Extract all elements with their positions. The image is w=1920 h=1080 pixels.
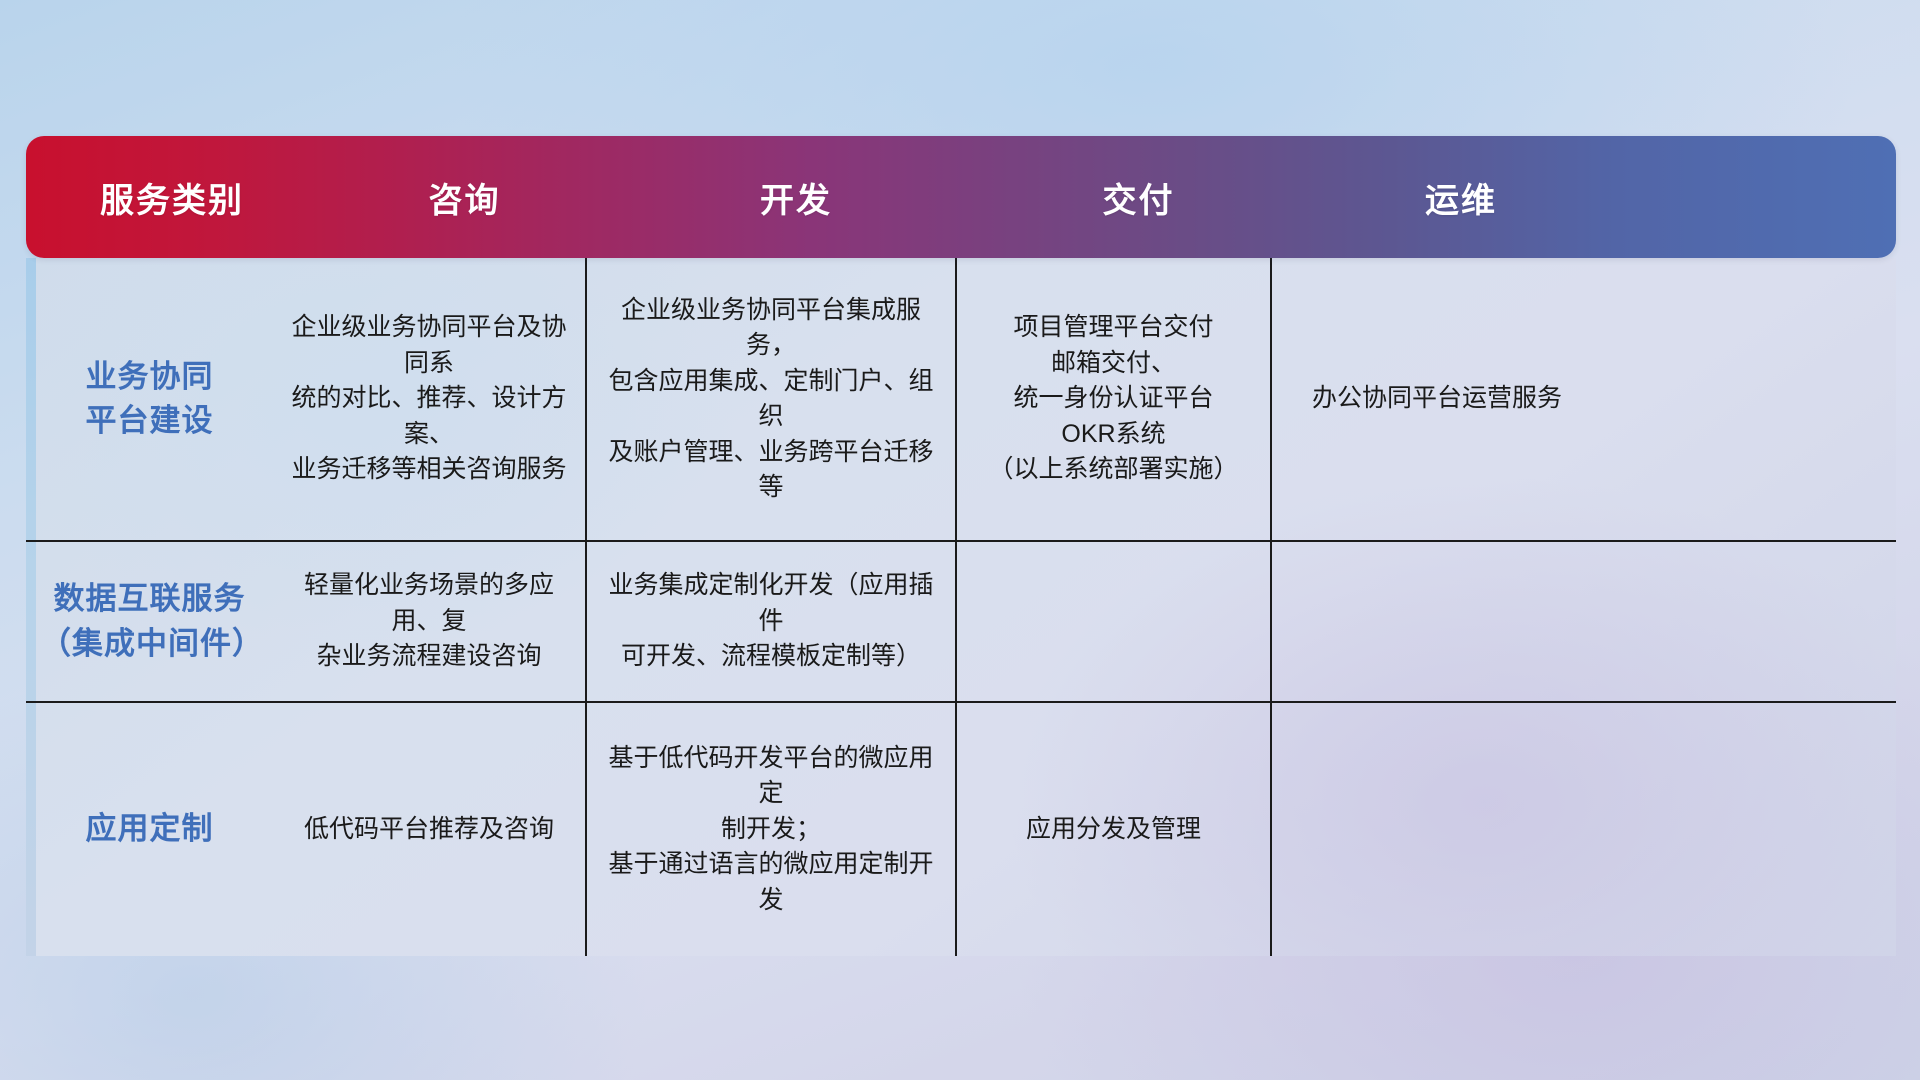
cell-r3c5: [1272, 703, 1602, 956]
row-label-business-collaboration: 业务协同 平台建设: [26, 258, 273, 540]
row-label-data-interconnect: 数据互联服务 （集成中间件）: [26, 542, 273, 701]
cell-r1c2: 企业级业务协同平台及协同系 统的对比、推荐、设计方案、 业务迁移等相关咨询服务: [273, 258, 585, 540]
cell-r2c5: [1272, 542, 1602, 701]
cell-r3c3: 基于低代码开发平台的微应用定 制开发； 基于通过语言的微应用定制开发: [587, 703, 955, 956]
column-header-consulting: 咨询: [318, 173, 611, 222]
column-header-service-category: 服务类别: [26, 173, 318, 222]
cell-r1c5: 办公协同平台运营服务: [1272, 258, 1602, 540]
column-header-delivery: 交付: [981, 173, 1296, 222]
cell-r2c2: 轻量化业务场景的多应用、复 杂业务流程建设咨询: [273, 542, 585, 701]
column-header-operations: 运维: [1296, 173, 1626, 222]
cell-r1c4: 项目管理平台交付 邮箱交付、 统一身份认证平台 OKR系统 （以上系统部署实施）: [957, 258, 1270, 540]
slide-canvas: 服务类别 咨询 开发 交付 运维 业务协同 平台建设 企业级业务协同平台及协同系…: [0, 0, 1920, 1080]
table-body: 业务协同 平台建设 企业级业务协同平台及协同系 统的对比、推荐、设计方案、 业务…: [26, 258, 1896, 956]
cell-r3c2: 低代码平台推荐及咨询: [273, 703, 585, 956]
cell-r2c4: [957, 542, 1270, 701]
table-header-row: 服务类别 咨询 开发 交付 运维: [26, 136, 1896, 258]
service-matrix-table: 服务类别 咨询 开发 交付 运维 业务协同 平台建设 企业级业务协同平台及协同系…: [26, 136, 1896, 956]
cell-r3c4: 应用分发及管理: [957, 703, 1270, 956]
cell-r1c3: 企业级业务协同平台集成服务， 包含应用集成、定制门户、组织 及账户管理、业务跨平…: [587, 258, 955, 540]
row-label-app-customization: 应用定制: [26, 703, 273, 956]
cell-r2c3: 业务集成定制化开发（应用插件 可开发、流程模板定制等）: [587, 542, 955, 701]
column-header-development: 开发: [611, 173, 981, 222]
